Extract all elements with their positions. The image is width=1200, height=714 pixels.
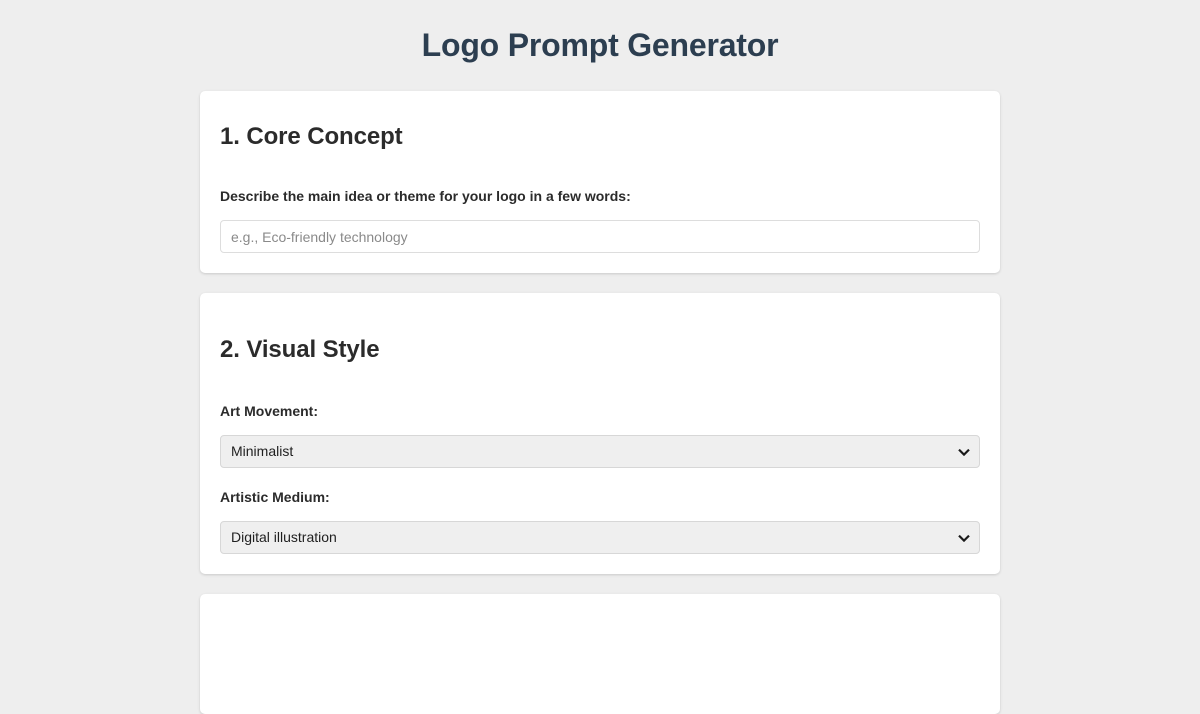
field-artistic-medium: Artistic Medium: Digital illustration <box>220 488 980 554</box>
artistic-medium-select[interactable]: Digital illustration <box>220 521 980 554</box>
field-core-concept: Describe the main idea or theme for your… <box>220 187 980 253</box>
label-art-movement: Art Movement: <box>220 402 980 420</box>
art-movement-select-wrap: Minimalist <box>220 435 980 468</box>
art-movement-select[interactable]: Minimalist <box>220 435 980 468</box>
cards-container: 1. Core Concept Describe the main idea o… <box>200 68 1000 714</box>
card-heading-visual-style: 2. Visual Style <box>220 336 980 364</box>
page-title: Logo Prompt Generator <box>0 22 1200 68</box>
card-next-section <box>200 594 1000 714</box>
card-heading-core-concept: 1. Core Concept <box>220 123 980 151</box>
core-concept-input[interactable] <box>220 220 980 253</box>
label-core-concept: Describe the main idea or theme for your… <box>220 187 980 205</box>
field-art-movement: Art Movement: Minimalist <box>220 402 980 468</box>
label-artistic-medium: Artistic Medium: <box>220 488 980 506</box>
artistic-medium-select-wrap: Digital illustration <box>220 521 980 554</box>
card-visual-style: 2. Visual Style Art Movement: Minimalist… <box>200 293 1000 574</box>
card-core-concept: 1. Core Concept Describe the main idea o… <box>200 91 1000 273</box>
page-root: Logo Prompt Generator 1. Core Concept De… <box>0 0 1200 714</box>
